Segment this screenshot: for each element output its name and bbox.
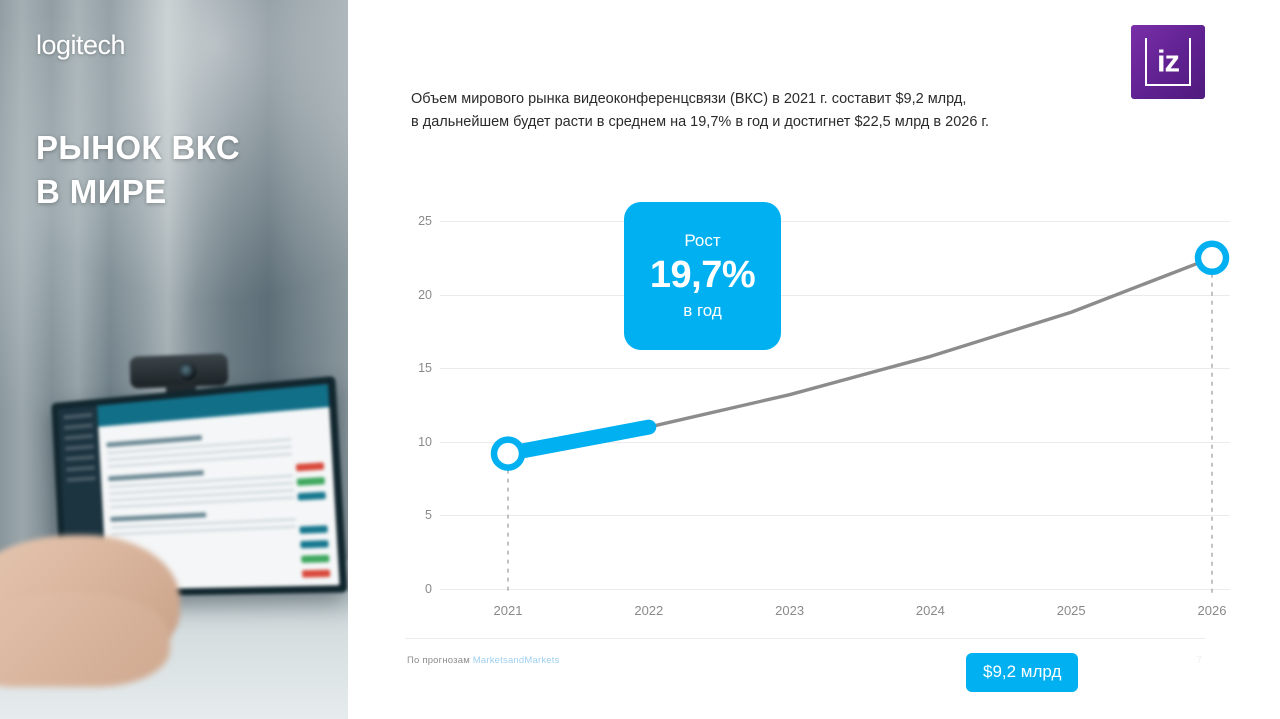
left-photo-panel: logitech РЫНОК ВКС В МИРЕ	[0, 0, 348, 719]
source-footnote: По прогнозам MarketsandMarkets	[407, 655, 560, 666]
growth-badge-bottom-label: в год	[683, 301, 722, 321]
headline-line-2: в дальнейшем будет расти в среднем на 19…	[411, 111, 1111, 134]
page-number: 7	[1196, 655, 1202, 666]
data-point-marker[interactable]	[494, 440, 522, 468]
footnote-source-link[interactable]: MarketsandMarkets	[473, 655, 560, 666]
highlight-line-segment	[508, 427, 649, 453]
data-point-marker[interactable]	[1198, 244, 1226, 272]
logitech-logo: logitech	[36, 30, 125, 61]
iz-logo: iz	[1131, 25, 1205, 99]
chart-plot-area	[400, 195, 1230, 635]
typing-hand-lower	[0, 592, 170, 687]
slide-canvas: logitech РЫНОК ВКС В МИРЕ iz Объем миров…	[0, 0, 1280, 719]
laptop-photo-scene	[0, 330, 348, 719]
callout-start-value: $9,2 млрд	[966, 653, 1078, 692]
market-growth-line-chart: 0510152025 202120222023202420252026 $9,2…	[400, 195, 1230, 635]
iz-logo-text: iz	[1131, 43, 1205, 79]
growth-badge-top-label: Рост	[684, 231, 720, 251]
page-title-line-2: В МИРЕ	[36, 170, 240, 214]
footer-divider	[405, 638, 1205, 639]
growth-rate-badge: Рост 19,7% в год	[624, 202, 781, 350]
growth-badge-value: 19,7%	[650, 253, 755, 298]
page-title: РЫНОК ВКС В МИРЕ	[36, 126, 240, 213]
headline: Объем мирового рынка видеоконференцсвязи…	[411, 88, 1111, 135]
headline-line-1: Объем мирового рынка видеоконференцсвязи…	[411, 88, 1111, 111]
page-title-line-1: РЫНОК ВКС	[36, 126, 240, 170]
footnote-prefix: По прогнозам	[407, 655, 473, 666]
